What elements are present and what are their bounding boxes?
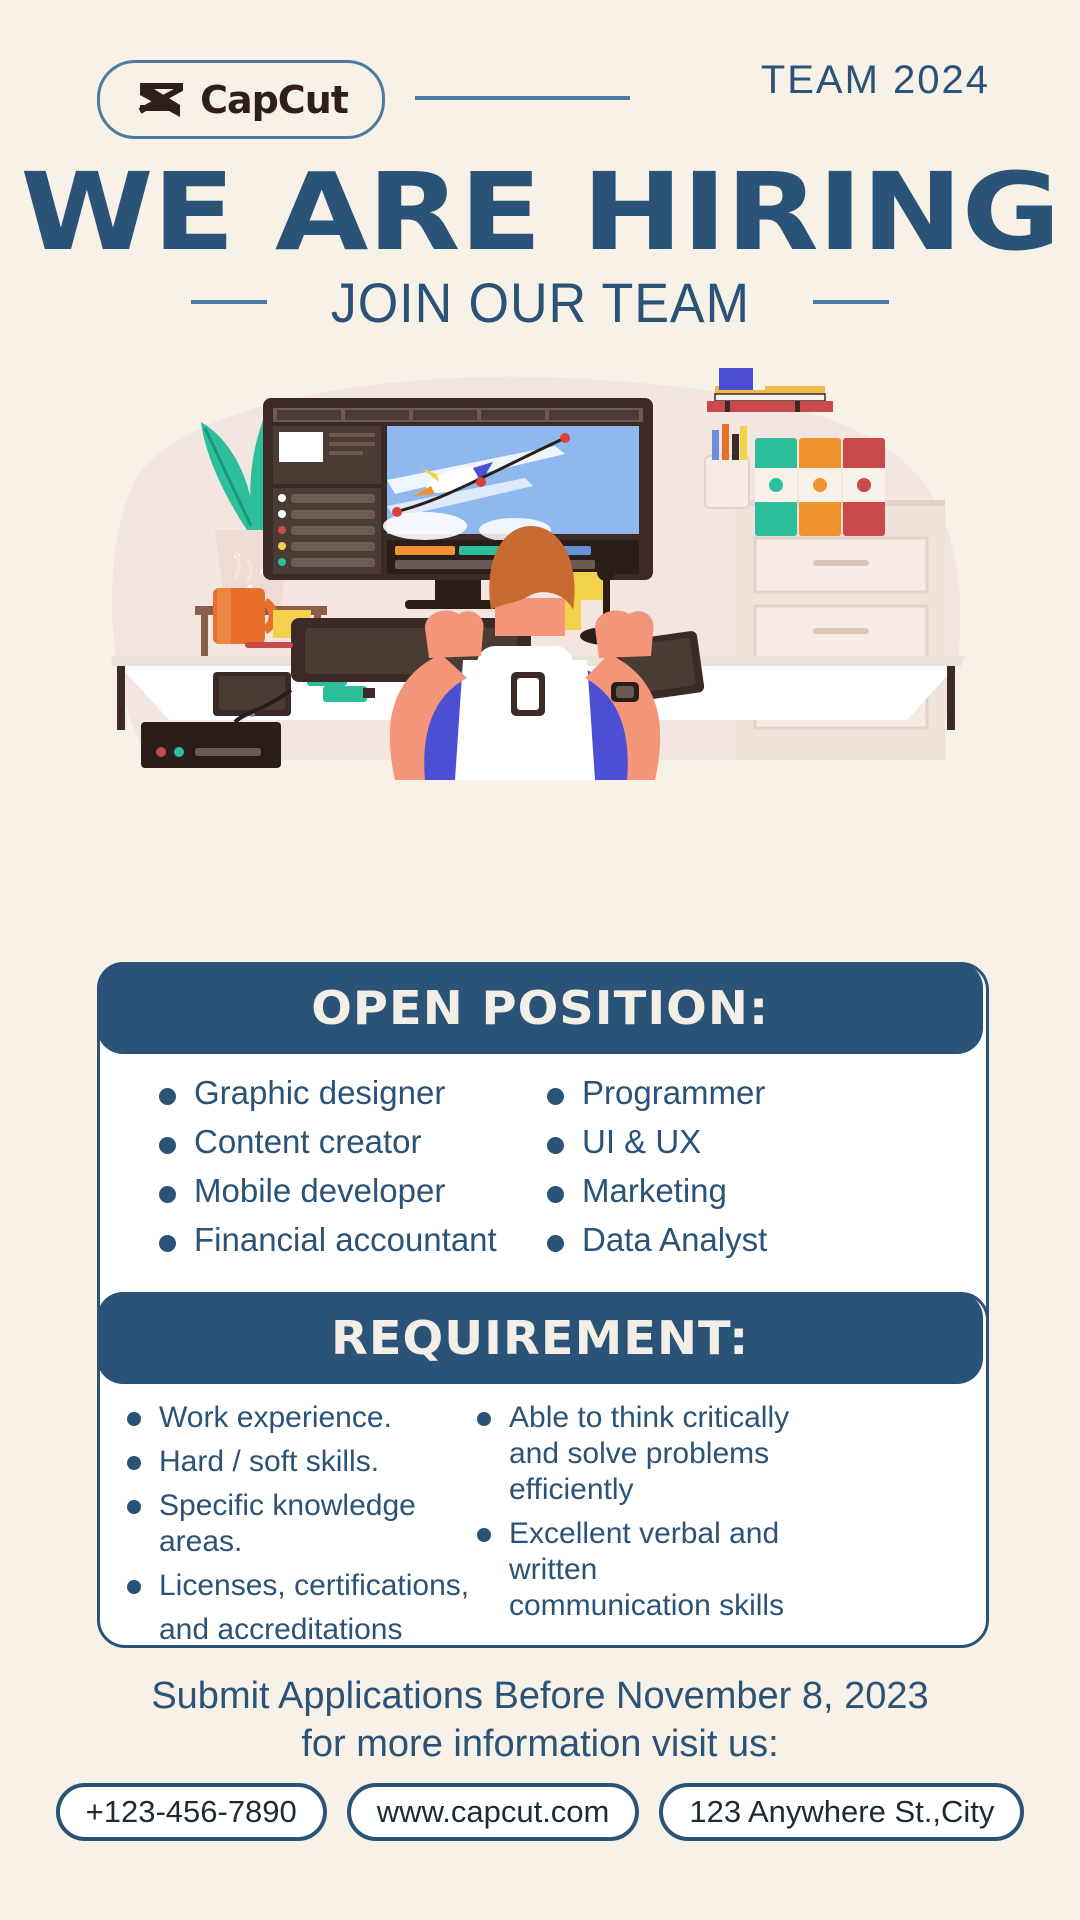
capcut-hourglass-icon [134,80,186,120]
list-item-label: Hard / soft skills. [159,1444,379,1480]
bullet-icon [127,1500,141,1514]
list-item[interactable]: Programmer [547,1074,887,1112]
list-item[interactable]: Work experience. [127,1400,477,1436]
bullet-icon [159,1137,176,1154]
bullet-icon [547,1088,564,1105]
list-item-label: Specific knowledge areas. [159,1488,477,1560]
page-subtitle: JOIN OUR TEAM [330,270,749,335]
bullet-icon [477,1528,491,1542]
website-url: www.capcut.com [377,1794,610,1830]
right-dash-decoration [813,300,889,304]
bullet-icon [477,1412,491,1426]
workspace-illustration [95,360,985,780]
bullet-icon [159,1186,176,1203]
list-item[interactable]: Graphic designer [159,1074,547,1112]
bullet-icon [547,1137,564,1154]
poster-header: CapCut TEAM 2024 [0,60,1080,140]
website-pill[interactable]: www.capcut.com [347,1783,640,1841]
bullet-icon [547,1186,564,1203]
requirement-section: REQUIREMENT: Work experience. Hard / sof… [97,1292,983,1678]
list-item[interactable]: Marketing [547,1172,887,1210]
requirement-right-column: Able to think critically and solve probl… [477,1400,807,1648]
positions-and-requirements-card: OPEN POSITION: Graphic designer Content … [97,962,983,1354]
bullet-icon [127,1412,141,1426]
list-item-label: Content creator [194,1123,421,1161]
list-item-label: Financial accountant [194,1221,497,1259]
open-position-banner: OPEN POSITION: [97,962,983,1054]
open-position-left-column: Graphic designer Content creator Mobile … [159,1074,547,1259]
list-item[interactable]: UI & UX [547,1123,887,1161]
requirement-heading: REQUIREMENT: [331,1311,749,1365]
requirement-left-continuation: and accreditations [127,1612,477,1648]
list-item-label: Data Analyst [582,1221,767,1259]
bullet-icon [159,1088,176,1105]
left-dash-decoration [191,300,267,304]
list-item-label: Marketing [582,1172,727,1210]
open-position-heading: OPEN POSITION: [311,981,769,1035]
requirement-left-column: Work experience. Hard / soft skills. Spe… [127,1400,477,1648]
list-item[interactable]: Data Analyst [547,1221,887,1259]
address-pill[interactable]: 123 Anywhere St.,City [659,1783,1024,1841]
deadline-line-2: for more information visit us: [0,1720,1080,1768]
list-item[interactable]: Content creator [159,1123,547,1161]
list-item[interactable]: Hard / soft skills. [127,1444,477,1480]
open-position-right-column: Programmer UI & UX Marketing Data Analys… [547,1074,887,1259]
contact-pills: +123-456-7890 www.capcut.com 123 Anywher… [0,1783,1080,1841]
subtitle-row: JOIN OUR TEAM [0,272,1080,332]
list-item[interactable]: Financial accountant [159,1221,547,1259]
list-item-label: Work experience. [159,1400,392,1436]
list-item-label: Excellent verbal and written communicati… [509,1516,807,1624]
list-item[interactable]: Excellent verbal and written communicati… [477,1516,807,1624]
page-title: WE ARE HIRING [0,160,1080,267]
team-year-label: TEAM 2024 [761,58,990,103]
phone-number: +123-456-7890 [86,1794,297,1830]
capcut-logo: CapCut [97,60,385,139]
street-address: 123 Anywhere St.,City [689,1794,994,1830]
capcut-logo-text: CapCut [200,81,348,119]
list-item[interactable]: Mobile developer [159,1172,547,1210]
bullet-icon [159,1235,176,1252]
requirement-lists: Work experience. Hard / soft skills. Spe… [97,1400,983,1648]
deadline-line-1: Submit Applications Before November 8, 2… [0,1672,1080,1720]
bullet-icon [127,1456,141,1470]
list-item-label: Licenses, certifications, [159,1568,469,1604]
list-item-label: Mobile developer [194,1172,445,1210]
header-divider-line [415,96,630,100]
list-item[interactable]: Able to think critically and solve probl… [477,1400,807,1508]
list-item-label: Programmer [582,1074,765,1112]
deadline-note: Submit Applications Before November 8, 2… [0,1672,1080,1769]
list-item[interactable]: Licenses, certifications, [127,1568,477,1604]
phone-pill[interactable]: +123-456-7890 [56,1783,327,1841]
requirement-banner: REQUIREMENT: [97,1292,983,1384]
list-item-label: Graphic designer [194,1074,445,1112]
list-item[interactable]: Specific knowledge areas. [127,1488,477,1560]
list-item-label: UI & UX [582,1123,701,1161]
bullet-icon [547,1235,564,1252]
hiring-poster: CapCut TEAM 2024 WE ARE HIRING JOIN OUR … [0,0,1080,1920]
list-item-label: Able to think critically and solve probl… [509,1400,807,1508]
open-position-lists: Graphic designer Content creator Mobile … [97,1074,983,1259]
bullet-icon [127,1580,141,1594]
